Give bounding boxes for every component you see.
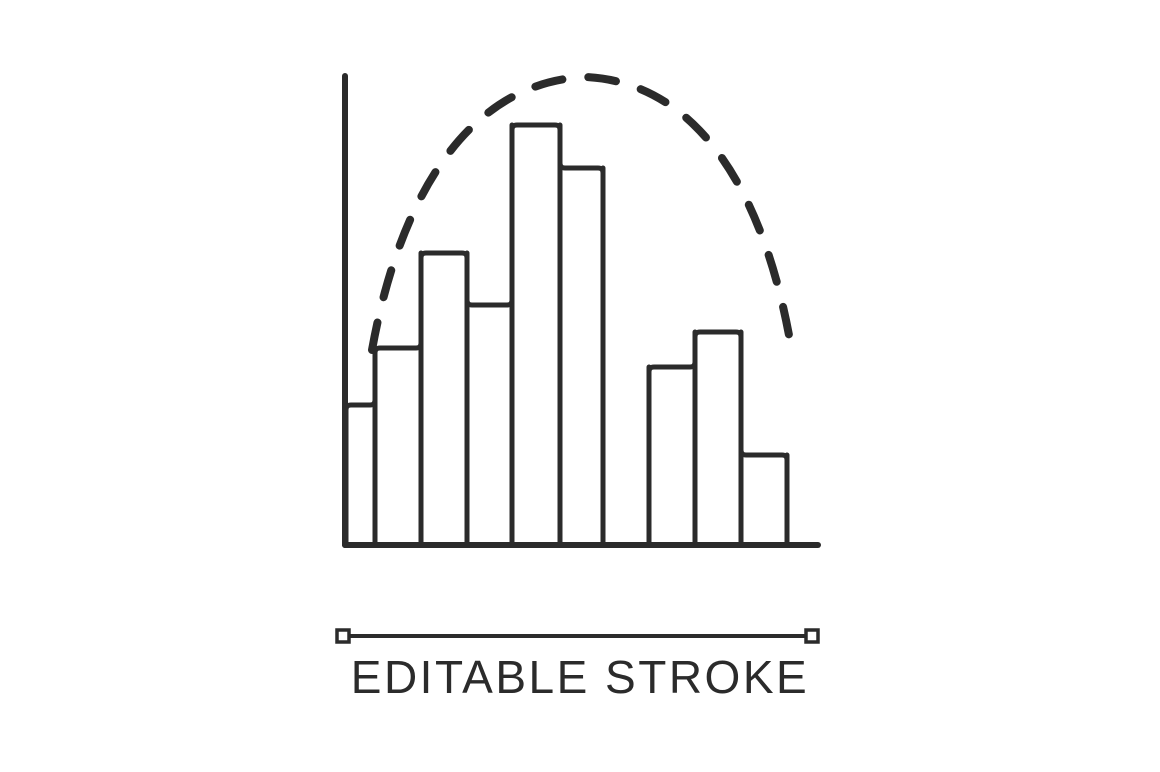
caption-editable-stroke: EDITABLE STROKE [0, 651, 1160, 703]
icon-canvas: EDITABLE STROKE [0, 0, 1160, 772]
bar [346, 125, 603, 545]
bar [649, 332, 787, 545]
distribution-curve-dashed [372, 77, 792, 352]
editable-stroke-ruler [337, 630, 818, 642]
ruler-handle-right[interactable] [806, 630, 818, 642]
bar-series [346, 125, 787, 545]
ruler-handle-left[interactable] [337, 630, 349, 642]
